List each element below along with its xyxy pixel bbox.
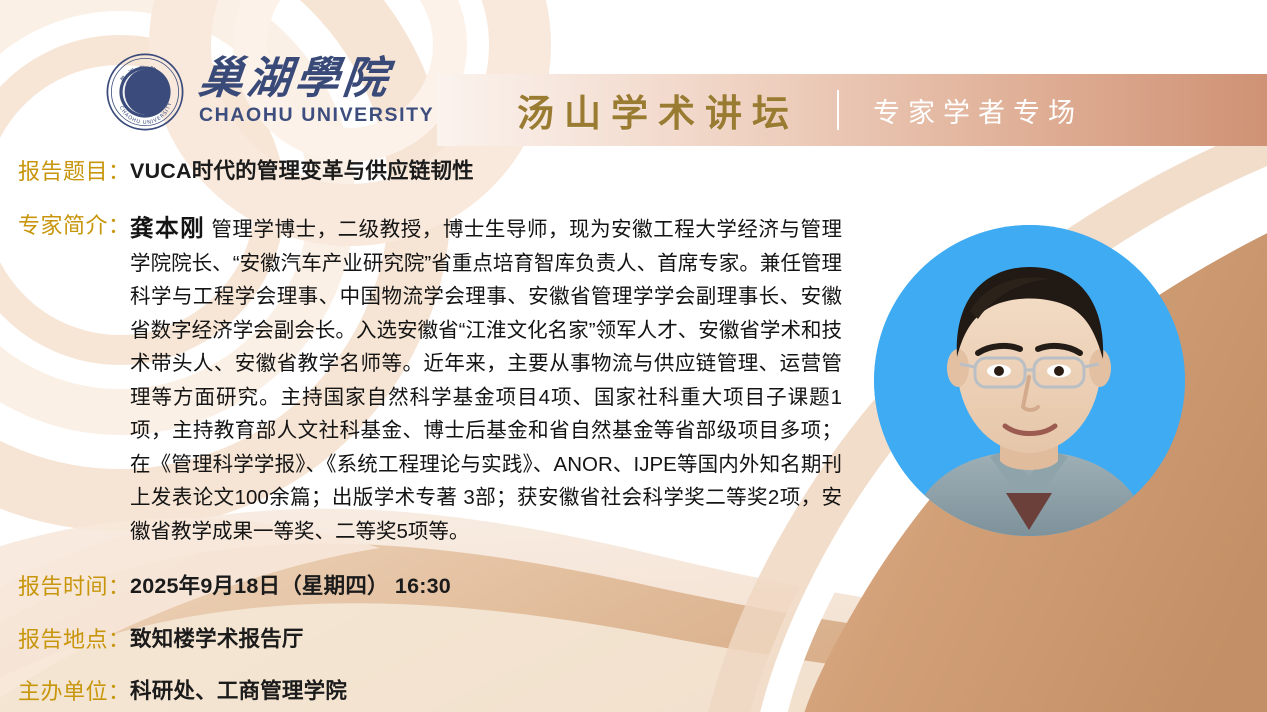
speaker-name: 龚本刚 [130, 215, 205, 241]
field-row-bio: 专家简介 ： 龚本刚 管理学博士，二级教授，博士生导师，现为安徽工程大学经济与管… [18, 212, 842, 548]
bio-colon: ： [108, 212, 130, 240]
bio-text: 管理学博士，二级教授，博士生导师，现为安徽工程大学经济与管理学院院长、“安徽汽车… [130, 218, 842, 543]
host-colon: ： [108, 678, 130, 706]
field-row-time: 报告时间 ： 2025年9月18日（星期四） 16:30 [18, 573, 451, 601]
time-value: 2025年9月18日（星期四） 16:30 [130, 573, 451, 600]
time-label: 报告时间 [18, 573, 108, 601]
bio-label: 专家简介 [18, 212, 108, 240]
speaker-photo [874, 225, 1185, 536]
poster-root: 1977 CHAOHU UNIVERSITY 巢湖学院 巢湖學院 CHAOHU … [0, 0, 1267, 712]
title-label: 报告题目 [18, 158, 108, 186]
place-value: 致知楼学术报告厅 [130, 626, 304, 653]
time-colon: ： [108, 573, 130, 601]
speaker-photo-svg [874, 225, 1185, 536]
host-label: 主办单位 [18, 678, 108, 706]
field-row-title: 报告题目 ： VUCA时代的管理变革与供应链韧性 [18, 158, 474, 186]
host-value: 科研处、工商管理学院 [130, 678, 347, 705]
title-colon: ： [108, 158, 130, 186]
bio-paragraph: 龚本刚 管理学博士，二级教授，博士生导师，现为安徽工程大学经济与管理学院院长、“… [130, 212, 842, 548]
title-value: VUCA时代的管理变革与供应链韧性 [130, 158, 474, 185]
place-colon: ： [108, 626, 130, 654]
field-row-host: 主办单位 ： 科研处、工商管理学院 [18, 678, 347, 706]
place-label: 报告地点 [18, 626, 108, 654]
field-row-place: 报告地点 ： 致知楼学术报告厅 [18, 626, 304, 654]
